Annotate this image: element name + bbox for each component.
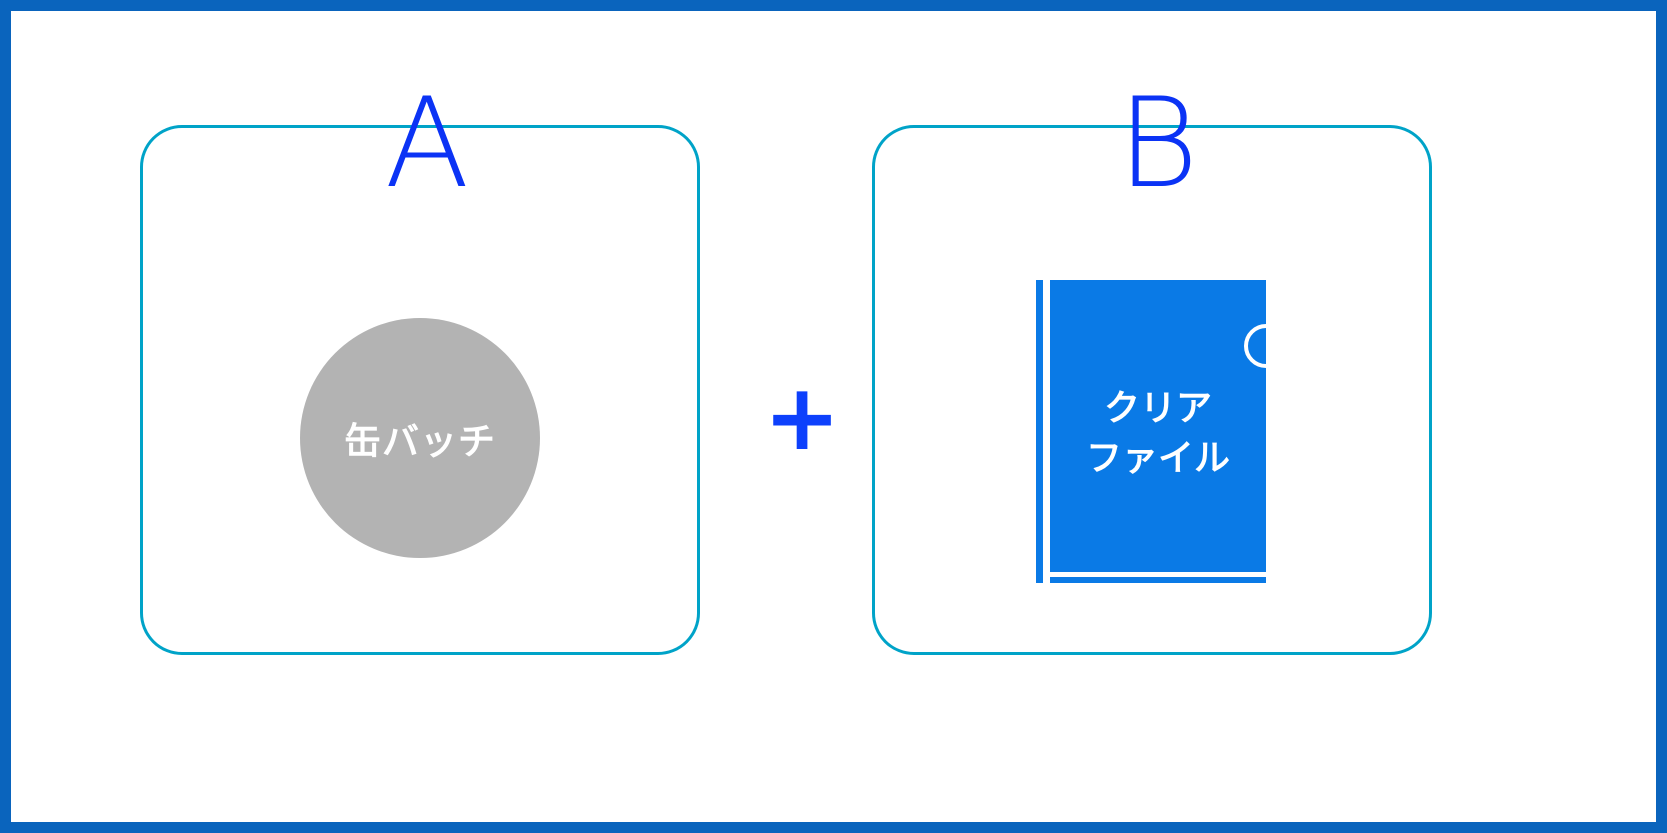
clear-file-label-line2: ファイル — [1050, 434, 1266, 484]
plus-icon: + — [742, 368, 862, 468]
clear-file-graphic: クリア ファイル — [1036, 280, 1266, 580]
can-badge-graphic: 缶バッチ — [300, 318, 540, 558]
clear-file-base — [1050, 577, 1266, 583]
clear-file-label-line1: クリア — [1050, 384, 1266, 434]
clear-file-spine-base — [1036, 577, 1043, 583]
clear-file-label: クリア ファイル — [1050, 384, 1266, 484]
option-label-a: A — [337, 82, 517, 206]
clear-file-body: クリア ファイル — [1050, 280, 1266, 572]
clear-file-hole-icon — [1244, 324, 1266, 368]
clear-file-spine — [1036, 280, 1043, 577]
can-badge-label: 缶バッチ — [344, 411, 496, 465]
screenshot-root: A 缶バッチ + B クリア ファイル — [0, 0, 1667, 833]
option-label-b: B — [1068, 82, 1248, 206]
